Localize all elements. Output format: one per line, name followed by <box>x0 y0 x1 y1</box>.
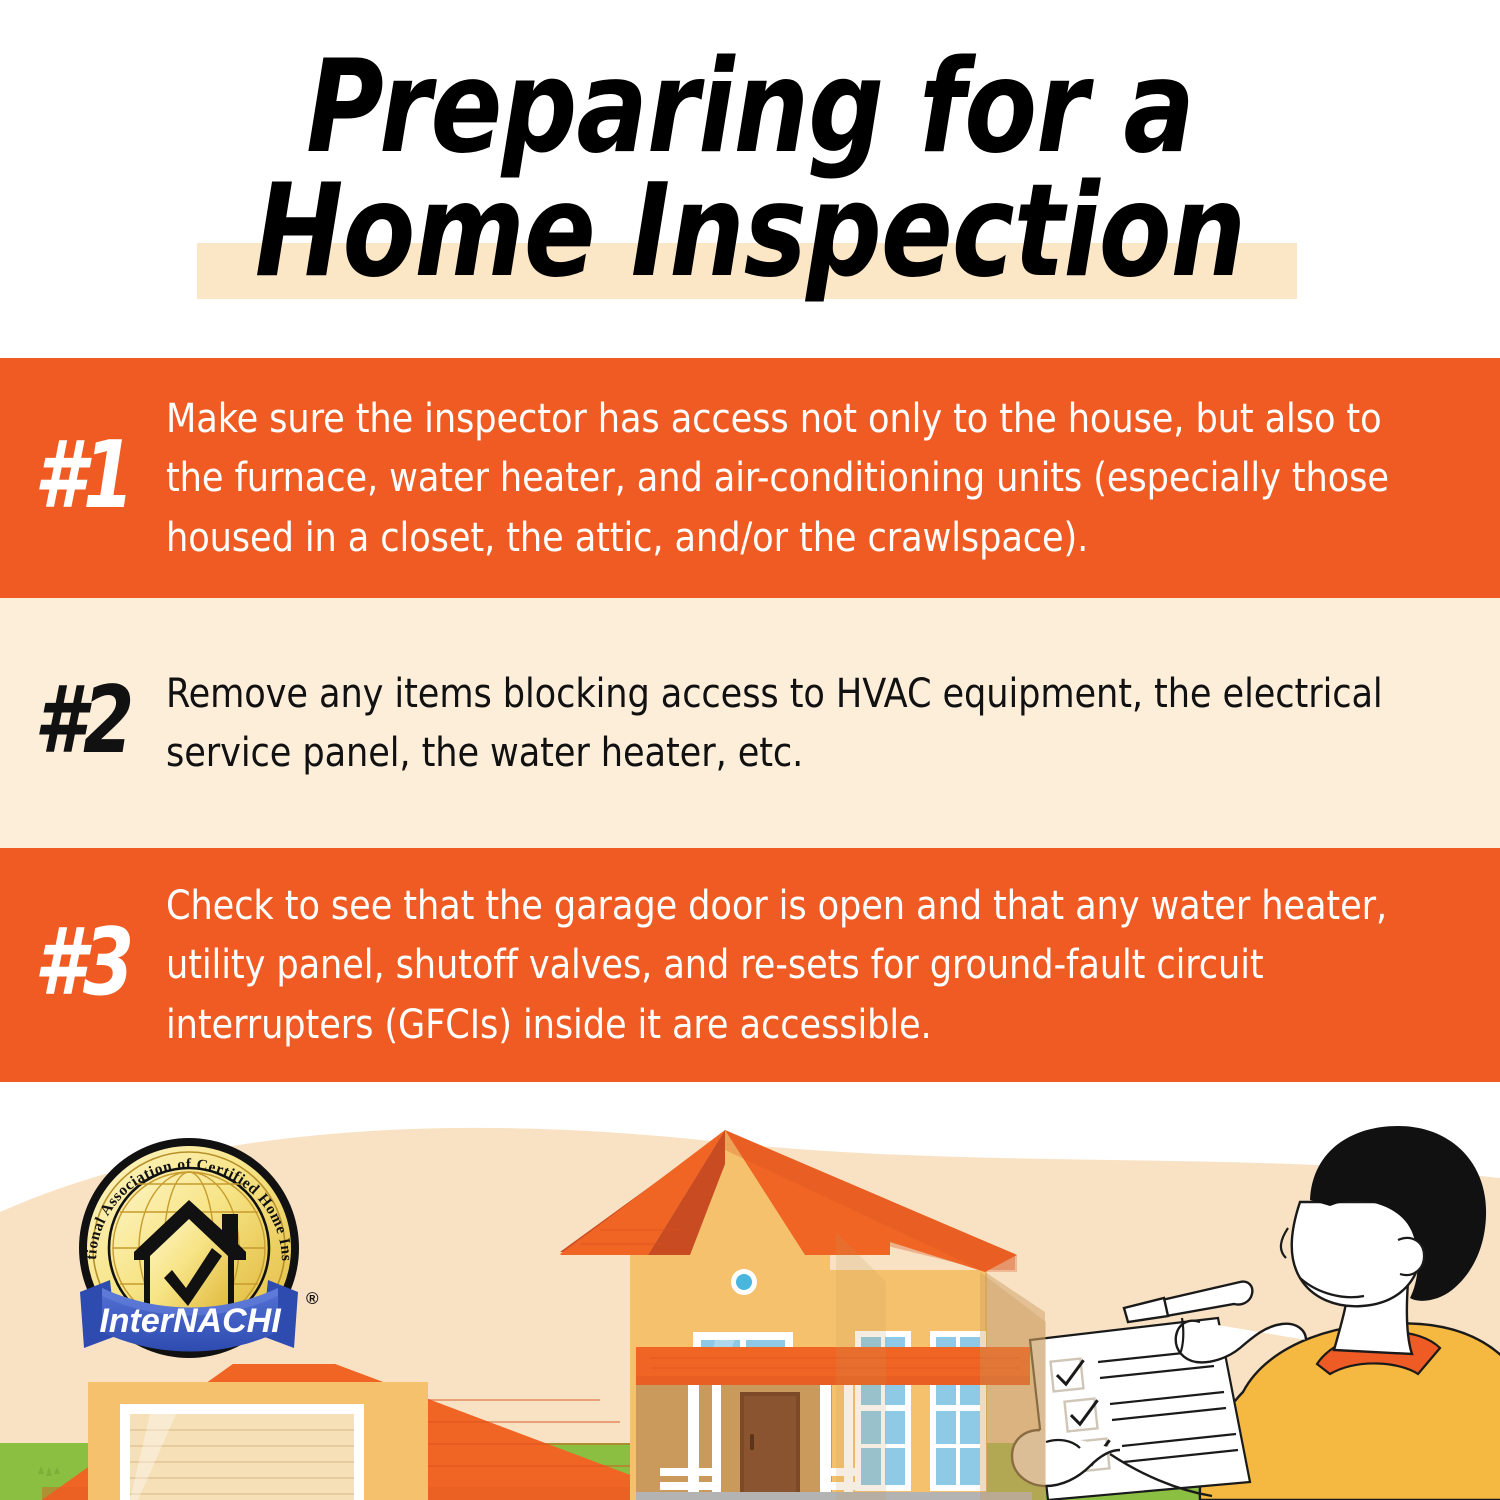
tip-number-1: #1 <box>10 429 156 528</box>
title-line-2: Home Inspection <box>60 170 1440 294</box>
tip-number-3: #3 <box>10 916 156 1015</box>
illustration-scene: International Association of Certified H… <box>0 1082 1500 1500</box>
tip-text-1: Make sure the inspector has access not o… <box>166 389 1453 566</box>
logo-ribbon-text: InterNACHI <box>99 1302 282 1340</box>
tip-band-3: #3 Check to see that the garage door is … <box>0 848 1500 1082</box>
window-right-lower-2 <box>930 1405 986 1491</box>
title-line-1: Preparing for a <box>60 46 1440 170</box>
page-title: Preparing for a Home Inspection <box>0 46 1500 294</box>
registered-mark: ® <box>306 1289 319 1308</box>
scene-artwork: International Association of Certified H… <box>0 1082 1500 1500</box>
tip-text-2: Remove any items blocking access to HVAC… <box>166 664 1453 782</box>
tip-band-2: #2 Remove any items blocking access to H… <box>0 598 1500 848</box>
tip-text-3: Check to see that the garage door is ope… <box>166 876 1453 1053</box>
tip-number-2: #2 <box>10 674 156 773</box>
garage-door <box>120 1404 364 1500</box>
header: Preparing for a Home Inspection <box>0 0 1500 358</box>
tip-band-1: #1 Make sure the inspector has access no… <box>0 358 1500 598</box>
